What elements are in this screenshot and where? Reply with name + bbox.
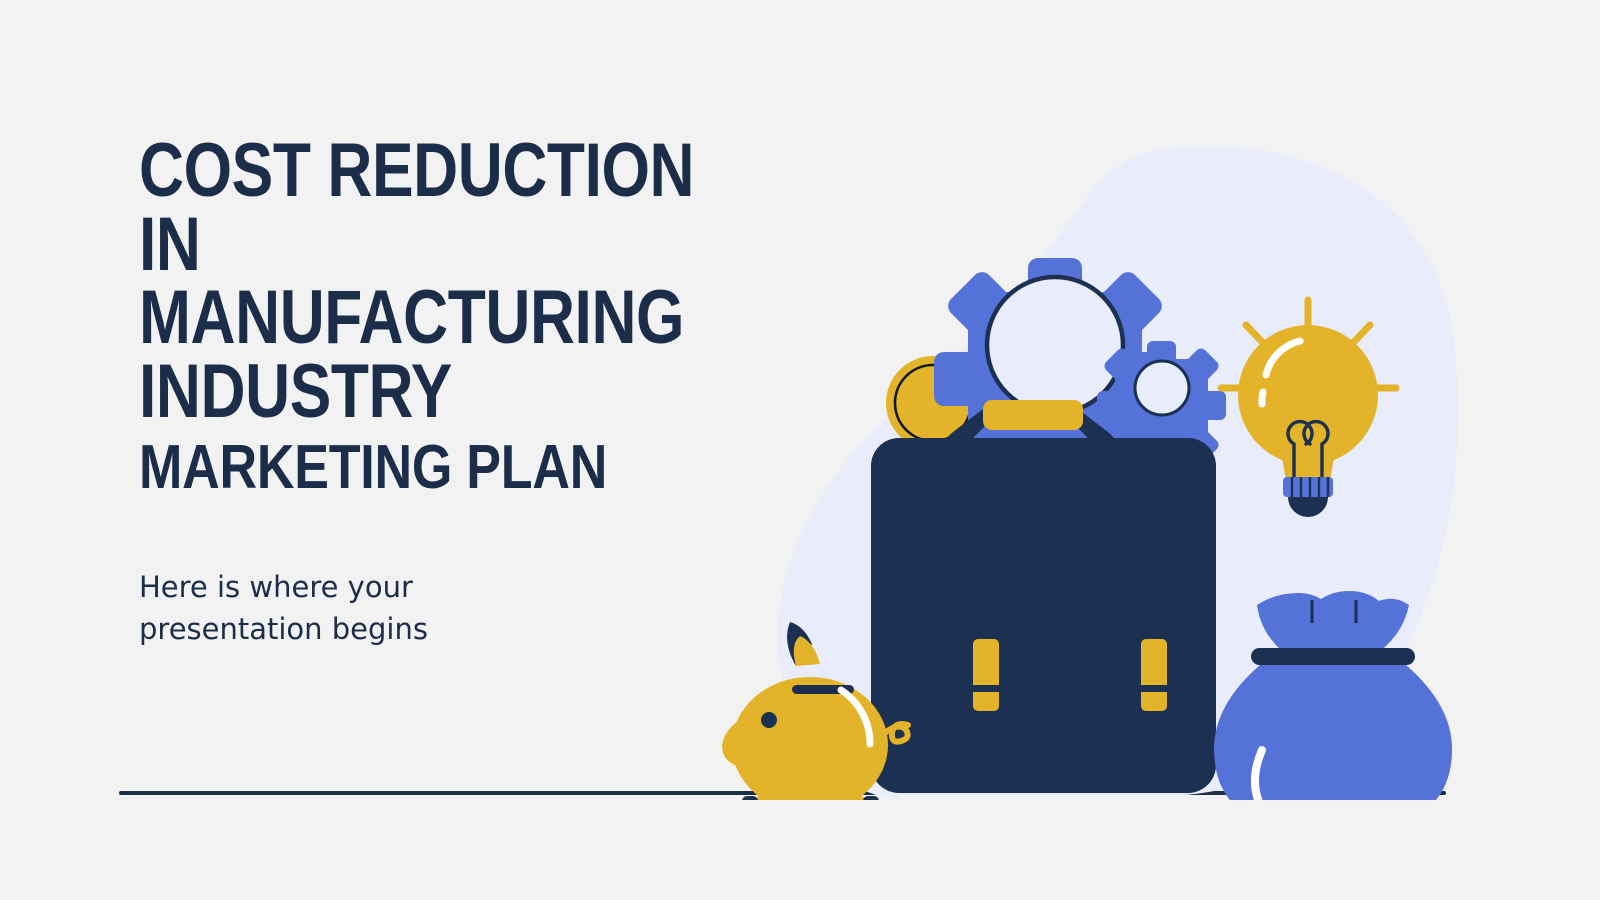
page-subtitle: Marketing Plan — [139, 429, 719, 500]
briefcase-icon — [871, 400, 1216, 793]
tagline-text: Here is where your presentation begins — [139, 566, 559, 650]
presentation-slide: Cost Reduction in Manufacturing Industry… — [0, 0, 1600, 900]
briefcase-latch-right — [1141, 639, 1167, 711]
briefcase-latch-left — [973, 639, 999, 711]
page-title: Cost Reduction in Manufacturing Industry — [139, 134, 705, 429]
illustration-group — [700, 120, 1500, 800]
